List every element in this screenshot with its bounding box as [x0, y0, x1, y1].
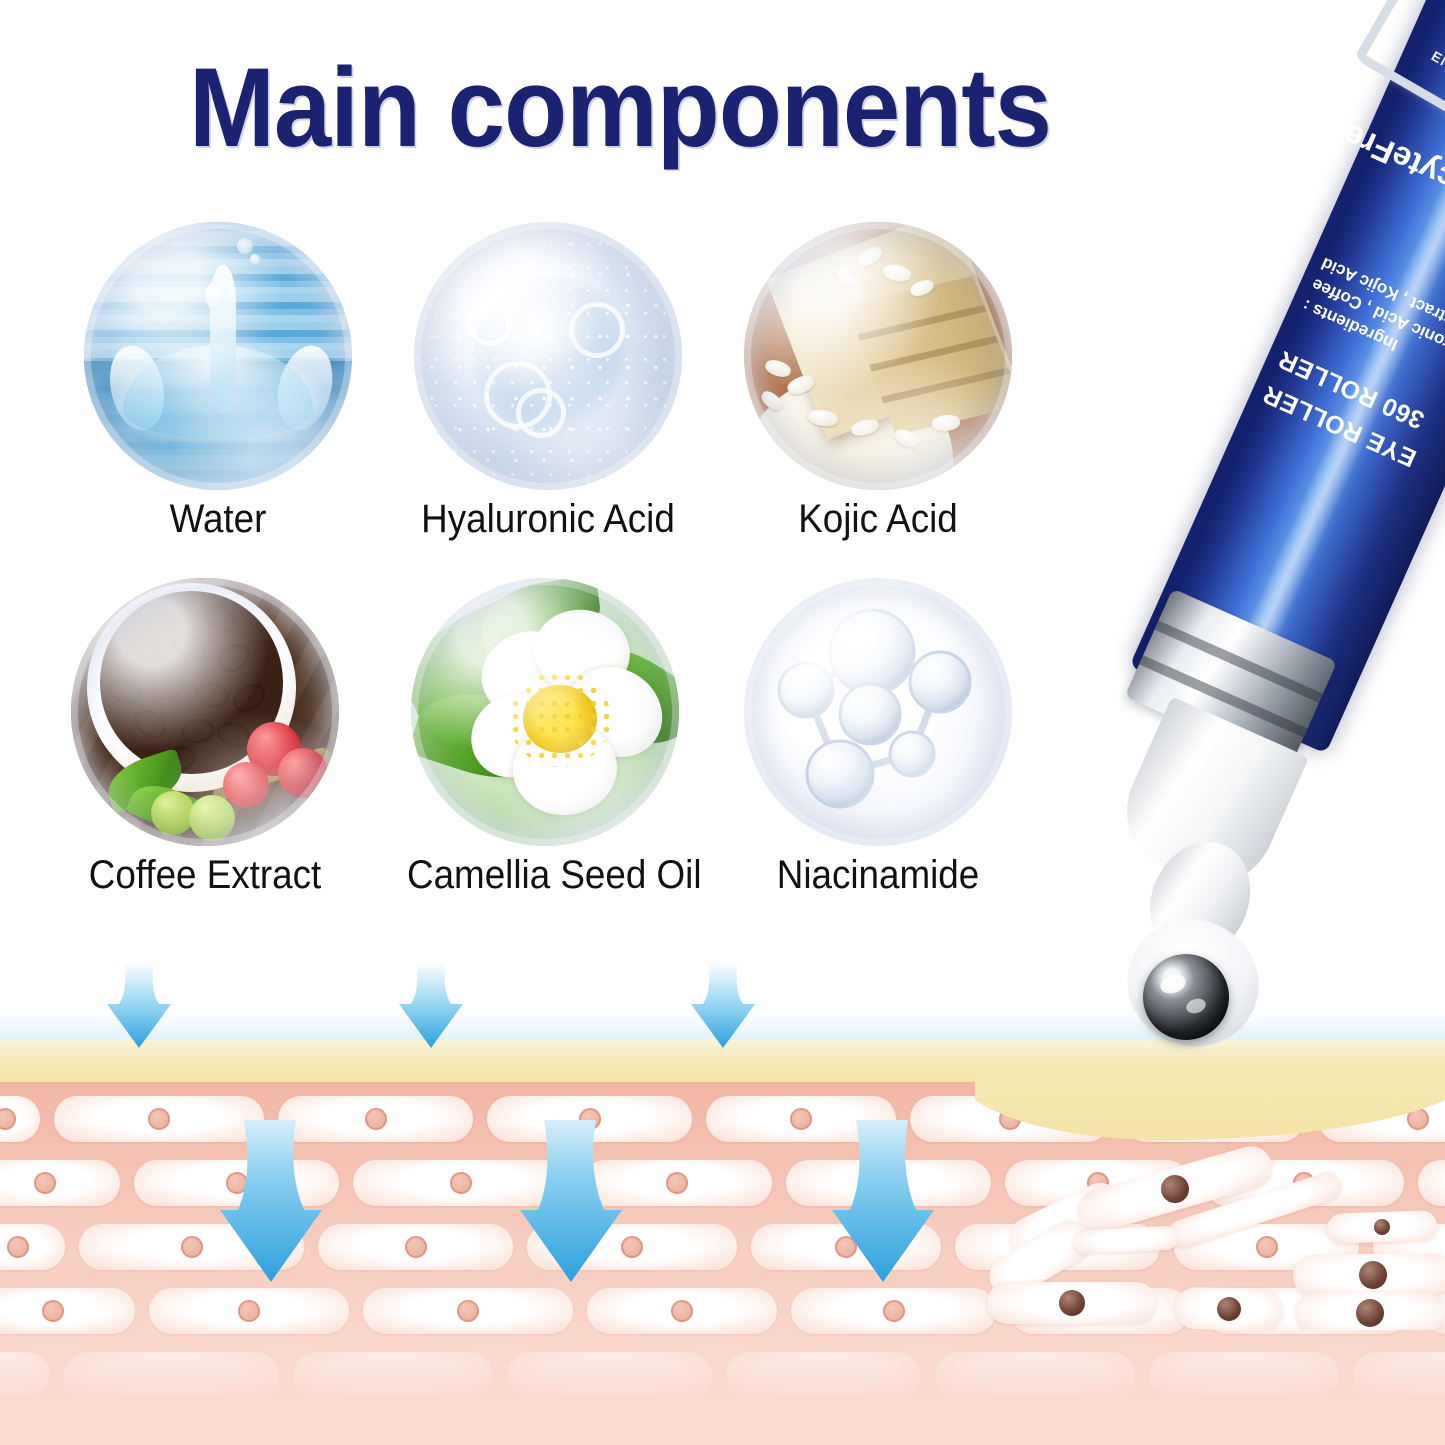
ingredient-camellia-seed-oil[interactable]: Camellia Seed Oil — [395, 578, 695, 896]
camellia-flower-image — [411, 578, 679, 846]
ingredient-label: Coffee Extract — [67, 854, 343, 896]
water-splash-image — [84, 222, 352, 490]
absorption-arrow-deep-2 — [516, 1118, 626, 1286]
ingredient-label: Camellia Seed Oil — [407, 854, 683, 896]
coffee-beans-image — [71, 578, 339, 846]
absorption-arrow-top-2 — [395, 960, 467, 1050]
gel-sphere-image — [414, 222, 682, 490]
ingredient-coffee-extract[interactable]: Coffee Extract — [55, 578, 355, 896]
melanin-pigment-cells — [975, 1070, 1445, 1330]
absorption-arrow-top-3 — [687, 960, 759, 1050]
absorption-arrow-top-1 — [103, 960, 175, 1050]
infographic-canvas: Main components Water Hyaluronic Acid — [0, 0, 1445, 1445]
absorption-arrow-deep-3 — [828, 1118, 938, 1286]
absorption-arrow-deep-1 — [216, 1118, 326, 1286]
ingredient-water[interactable]: Water — [68, 222, 368, 540]
metal-roller-ball — [1143, 954, 1229, 1040]
ingredient-label: Hyaluronic Acid — [410, 498, 686, 540]
product-eye-roller[interactable]: EYE ROLLER 360 ROLLER Ingredients : Hyal… — [905, 0, 1445, 1100]
ingredient-label: Water — [80, 498, 356, 540]
tube-claim-melanocytefree: MelanocyteFree — [1355, 124, 1445, 246]
ingredient-hyaluronic-acid[interactable]: Hyaluronic Acid — [398, 222, 698, 540]
